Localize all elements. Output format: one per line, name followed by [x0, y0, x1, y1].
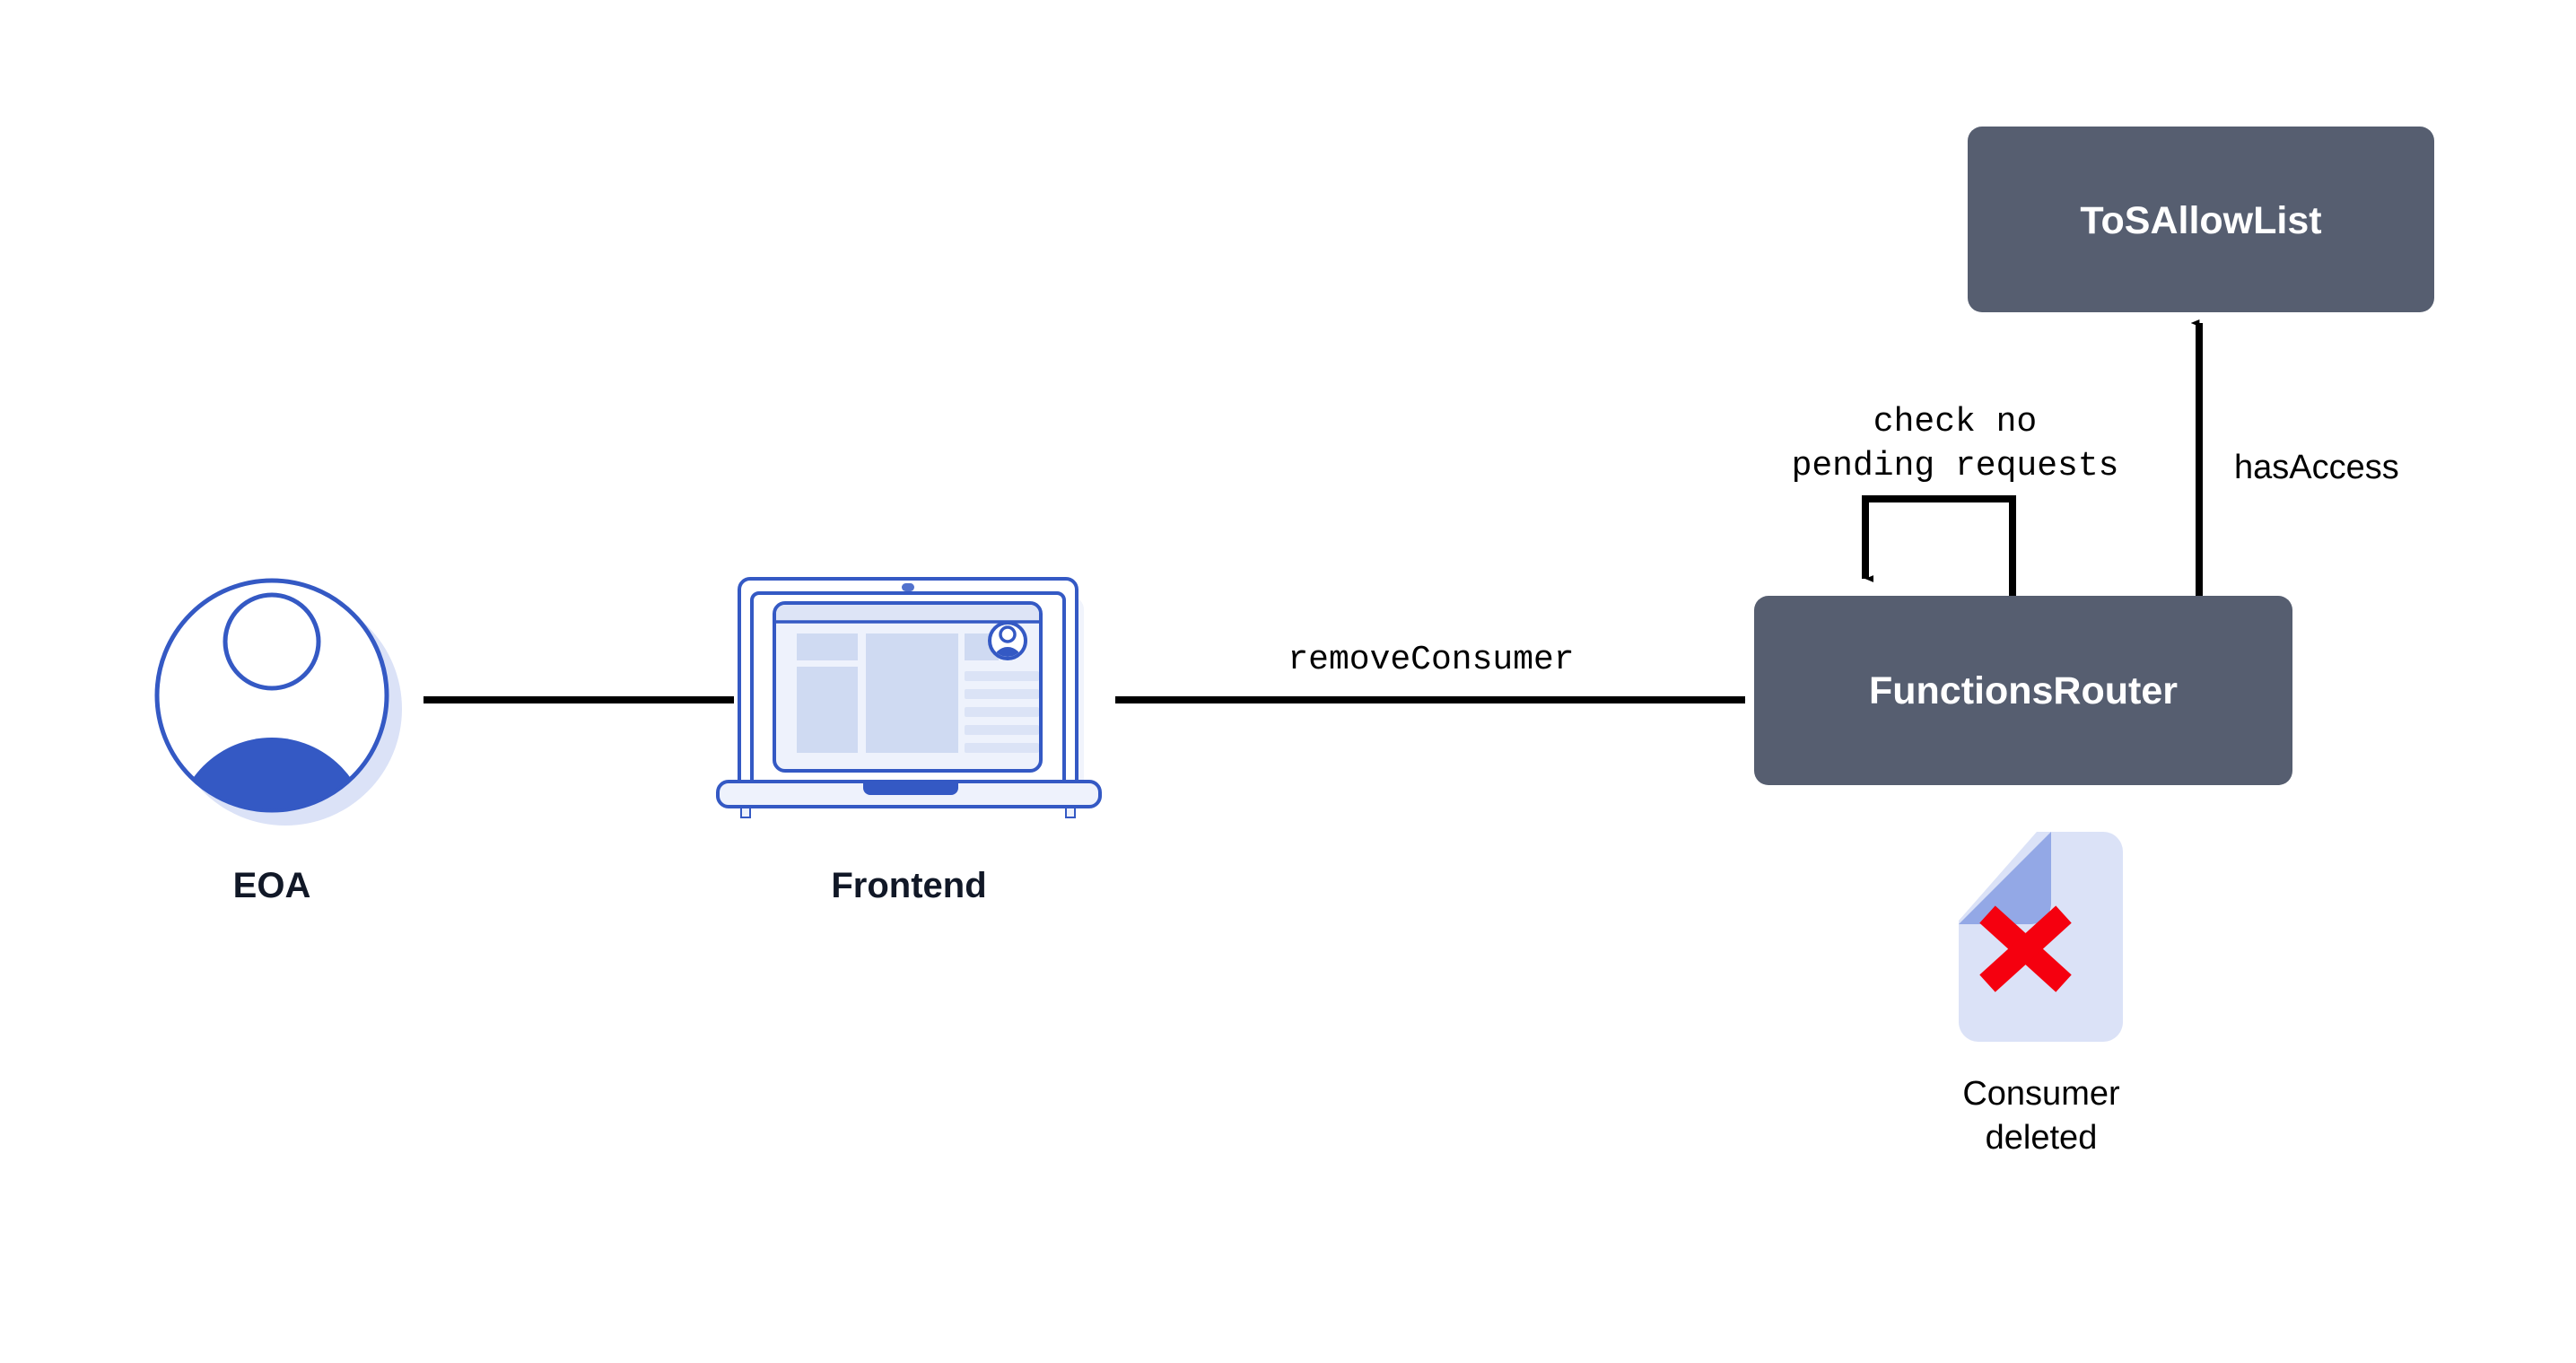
- functions-router-label: FunctionsRouter: [1869, 669, 2178, 712]
- edge-label-has-access: hasAccess: [2234, 449, 2399, 486]
- self-loop-label-line2: pending requests: [1792, 447, 2119, 485]
- consumer-deleted-label-line1: Consumer: [1962, 1075, 2120, 1113]
- edge-label-remove-consumer: removeConsumer: [1288, 641, 1574, 679]
- frontend-label: Frontend: [831, 866, 986, 905]
- diagram-svg: EOA: [0, 0, 2576, 1363]
- eoa-label: EOA: [233, 866, 311, 905]
- tos-allow-list-label: ToSAllowList: [2080, 199, 2321, 242]
- self-loop-label-line1: check no: [1873, 403, 2037, 441]
- diagram-canvas: EOA: [0, 0, 2576, 1363]
- consumer-deleted-label-line2: deleted: [1986, 1119, 2098, 1157]
- edge-router-self-loop: [1865, 499, 2013, 596]
- document-deleted-icon: [1959, 832, 2123, 1042]
- laptop-icon: [718, 579, 1100, 817]
